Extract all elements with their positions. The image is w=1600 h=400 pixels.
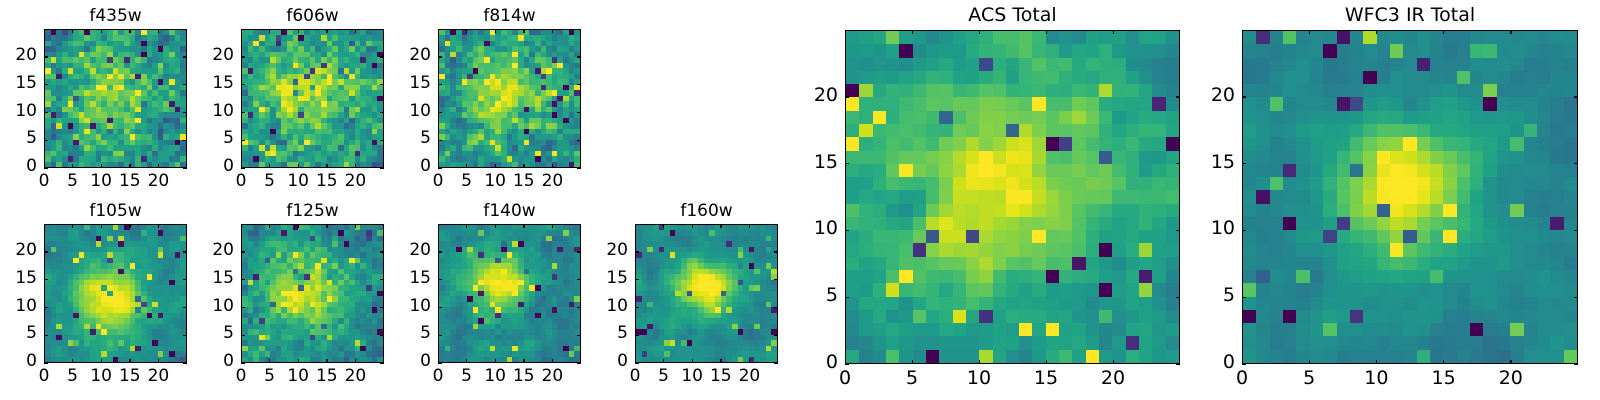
x-tick-mark [326, 29, 327, 33]
y-tick-mark [774, 335, 778, 336]
heatmap-cell [979, 124, 992, 137]
heatmap-cell [1139, 111, 1152, 124]
heatmap-cell [1006, 111, 1019, 124]
heatmap-cell [859, 97, 872, 110]
heatmap-cell [1086, 71, 1099, 84]
heatmap-cell [899, 230, 912, 243]
heatmap-cell [873, 217, 886, 230]
heatmap-cell [1046, 190, 1059, 203]
heatmap-cell [1072, 164, 1085, 177]
heatmap-cell [377, 162, 383, 167]
panel-title-acs-total: ACS Total [845, 6, 1180, 25]
heatmap-cell [1126, 217, 1139, 230]
y-tick-mark [635, 279, 639, 280]
heatmap-cell [1086, 84, 1099, 97]
heatmap-cell [1059, 31, 1072, 44]
heatmap-cell [1072, 124, 1085, 137]
x-tick-mark [44, 224, 45, 228]
heatmap-cell [926, 177, 939, 190]
heatmap-cell [993, 190, 1006, 203]
heatmap-cell [1112, 177, 1125, 190]
heatmap-cell [1032, 58, 1045, 71]
heatmap-cell [1166, 217, 1179, 230]
heatmap-cell [859, 190, 872, 203]
heatmap-cell [899, 44, 912, 57]
x-tick-mark [635, 359, 636, 363]
heatmap-cell [913, 84, 926, 97]
x-tick-mark [101, 224, 102, 228]
y-tick-mark [183, 112, 187, 113]
heatmap-cell [926, 151, 939, 164]
heatmap-cell [1166, 97, 1179, 110]
heatmap-cell [1112, 164, 1125, 177]
heatmap-grid [242, 30, 383, 167]
y-tick-label: 5 [0, 325, 37, 342]
y-tick-label: 5 [391, 325, 431, 342]
x-tick-mark [635, 224, 636, 228]
heatmap-cell [1046, 97, 1059, 110]
heatmap-cell [1112, 137, 1125, 150]
heatmap-cell [993, 204, 1006, 217]
heatmap-cell [846, 217, 859, 230]
heatmap-cell [859, 71, 872, 84]
x-tick-mark [466, 224, 467, 228]
heatmap-cell [180, 162, 186, 167]
heatmap-cell [1166, 31, 1179, 44]
x-tick-mark [523, 359, 524, 363]
heatmap-cell [1032, 44, 1045, 57]
heatmap-cell [1059, 204, 1072, 217]
heatmap-cell [1086, 97, 1099, 110]
x-tick-mark [552, 164, 553, 168]
heatmap-cell [979, 151, 992, 164]
heatmap-cell [1126, 164, 1139, 177]
y-tick-mark [577, 363, 581, 364]
x-tick-mark [663, 359, 664, 363]
y-tick-mark [577, 279, 581, 280]
heatmap-cell [1072, 58, 1085, 71]
heatmap-f435w [44, 29, 187, 168]
x-tick-mark [298, 359, 299, 363]
heatmap-acs-total [845, 30, 1180, 364]
heatmap-cell [913, 177, 926, 190]
heatmap-cell [1099, 151, 1112, 164]
x-tick-label: 20 [335, 173, 375, 190]
heatmap-cell [1019, 58, 1032, 71]
heatmap-cell [1139, 31, 1152, 44]
x-tick-mark [326, 224, 327, 228]
heatmap-cell [1046, 137, 1059, 150]
x-tick-mark [241, 224, 242, 228]
heatmap-cell [899, 137, 912, 150]
heatmap-cell [979, 190, 992, 203]
y-tick-mark [183, 140, 187, 141]
heatmap-cell [939, 164, 952, 177]
heatmap-cell [953, 177, 966, 190]
heatmap-cell [979, 44, 992, 57]
y-tick-mark [241, 279, 245, 280]
x-tick-mark [158, 359, 159, 363]
y-tick-mark [380, 251, 384, 252]
heatmap-cell [966, 204, 979, 217]
heatmap-cell [1072, 190, 1085, 203]
x-tick-mark [72, 359, 73, 363]
y-tick-mark [380, 279, 384, 280]
heatmap-cell [1059, 164, 1072, 177]
heatmap-cell [1126, 111, 1139, 124]
heatmap-cell [886, 230, 899, 243]
heatmap-cell [886, 151, 899, 164]
x-tick-mark [269, 29, 270, 33]
heatmap-cell [873, 44, 886, 57]
heatmap-cell [1152, 58, 1165, 71]
heatmap-cell [1166, 151, 1179, 164]
y-tick-label: 20 [0, 47, 37, 64]
heatmap-cell [1099, 84, 1112, 97]
y-tick-label: 10 [391, 103, 431, 120]
heatmap-cell [1112, 31, 1125, 44]
heatmap-cell [1006, 97, 1019, 110]
heatmap-cell [1086, 217, 1099, 230]
heatmap-cell [1006, 164, 1019, 177]
x-tick-mark [720, 359, 721, 363]
heatmap-cell [1112, 124, 1125, 137]
panel-title-f606w: f606w [241, 8, 384, 25]
heatmap-cell [1152, 190, 1165, 203]
x-tick-mark [495, 224, 496, 228]
x-tick-label: 20 [729, 368, 769, 385]
heatmap-cell [574, 162, 580, 167]
heatmap-cell [1086, 190, 1099, 203]
heatmap-cell [953, 190, 966, 203]
heatmap-cell [993, 84, 1006, 97]
heatmap-cell [899, 124, 912, 137]
heatmap-cell [953, 111, 966, 124]
y-tick-mark [183, 279, 187, 280]
heatmap-cell [873, 137, 886, 150]
y-tick-mark [241, 307, 245, 308]
heatmap-cell [979, 164, 992, 177]
heatmap-cell [1086, 44, 1099, 57]
x-tick-mark [129, 224, 130, 228]
heatmap-cell [1126, 58, 1139, 71]
panel-f814w: f814w0510152005101520 [438, 29, 581, 168]
heatmap-cell [1006, 31, 1019, 44]
heatmap-cell [873, 71, 886, 84]
heatmap-cell [939, 44, 952, 57]
heatmap-grid [45, 225, 186, 362]
heatmap-cell [1152, 97, 1165, 110]
heatmap-cell [1032, 137, 1045, 150]
heatmap-cell [913, 97, 926, 110]
heatmap-grid [45, 30, 186, 167]
x-tick-mark [552, 224, 553, 228]
heatmap-cell [926, 230, 939, 243]
heatmap-cell [966, 137, 979, 150]
heatmap-cell [1006, 124, 1019, 137]
heatmap-cell [1006, 190, 1019, 203]
heatmap-cell [859, 58, 872, 71]
x-tick-mark [552, 29, 553, 33]
heatmap-cell [939, 111, 952, 124]
heatmap-cell [1152, 217, 1165, 230]
heatmap-cell [926, 124, 939, 137]
y-tick-label: 20 [0, 242, 37, 259]
heatmap-cell [1019, 97, 1032, 110]
panel-f125w: f125w0510152005101520 [241, 224, 384, 363]
heatmap-cell [966, 124, 979, 137]
heatmap-cell [1019, 71, 1032, 84]
heatmap-cell [953, 58, 966, 71]
heatmap-cell [926, 31, 939, 44]
heatmap-cell [1019, 217, 1032, 230]
heatmap-cell [1032, 204, 1045, 217]
x-tick-label: 20 [138, 368, 178, 385]
y-tick-mark [577, 335, 581, 336]
x-tick-mark [523, 164, 524, 168]
x-tick-mark [355, 359, 356, 363]
heatmap-cell [1139, 204, 1152, 217]
y-tick-mark [44, 335, 48, 336]
heatmap-cell [953, 204, 966, 217]
heatmap-grid [636, 225, 777, 362]
heatmap-cell [1072, 44, 1085, 57]
y-tick-mark [241, 56, 245, 57]
heatmap-cell [846, 124, 859, 137]
y-tick-label: 10 [194, 298, 234, 315]
heatmap-cell [1046, 111, 1059, 124]
y-tick-mark [44, 140, 48, 141]
heatmap-cell [1019, 31, 1032, 44]
x-tick-mark [523, 224, 524, 228]
heatmap-cell [1152, 124, 1165, 137]
heatmap-cell [1152, 204, 1165, 217]
heatmap-cell [1019, 111, 1032, 124]
heatmap-cell [1059, 151, 1072, 164]
heatmap-cell [913, 71, 926, 84]
x-tick-mark [438, 164, 439, 168]
heatmap-cell [1032, 164, 1045, 177]
x-tick-mark [466, 29, 467, 33]
y-tick-mark [241, 140, 245, 141]
heatmap-cell [966, 164, 979, 177]
heatmap-cell [859, 164, 872, 177]
x-tick-mark [129, 359, 130, 363]
heatmap-cell [1086, 111, 1099, 124]
heatmap-cell [926, 137, 939, 150]
heatmap-cell [859, 217, 872, 230]
y-tick-mark [577, 140, 581, 141]
x-tick-mark [101, 359, 102, 363]
x-tick-mark [326, 359, 327, 363]
heatmap-cell [873, 58, 886, 71]
y-tick-mark [44, 112, 48, 113]
heatmap-cell [939, 31, 952, 44]
x-tick-mark [692, 224, 693, 228]
heatmap-cell [913, 230, 926, 243]
heatmap-cell [1032, 31, 1045, 44]
heatmap-f140w [438, 224, 581, 363]
heatmap-cell [1046, 164, 1059, 177]
heatmap-cell [846, 44, 859, 57]
heatmap-cell [1032, 84, 1045, 97]
heatmap-cell [899, 177, 912, 190]
heatmap-cell [1019, 164, 1032, 177]
heatmap-cell [966, 84, 979, 97]
heatmap-cell [846, 71, 859, 84]
heatmap-cell [846, 204, 859, 217]
x-tick-mark [438, 224, 439, 228]
heatmap-cell [939, 204, 952, 217]
heatmap-cell [1152, 31, 1165, 44]
heatmap-cell [1019, 44, 1032, 57]
y-tick-mark [44, 307, 48, 308]
y-tick-mark [774, 307, 778, 308]
heatmap-cell [846, 151, 859, 164]
heatmap-cell [993, 177, 1006, 190]
heatmap-cell [1126, 190, 1139, 203]
heatmap-f105w [44, 224, 187, 363]
heatmap-cell [926, 217, 939, 230]
y-tick-mark [438, 56, 442, 57]
x-tick-mark [72, 224, 73, 228]
heatmap-cell [1152, 44, 1165, 57]
heatmap-cell [1152, 71, 1165, 84]
heatmap-cell [1046, 58, 1059, 71]
heatmap-cell [966, 111, 979, 124]
heatmap-cell [1166, 111, 1179, 124]
y-tick-mark [635, 307, 639, 308]
y-tick-mark [577, 251, 581, 252]
heatmap-cell [1046, 217, 1059, 230]
heatmap-cell [1006, 84, 1019, 97]
y-tick-mark [438, 251, 442, 252]
heatmap-f606w [241, 29, 384, 168]
y-tick-label: 15 [0, 270, 37, 287]
y-tick-mark [183, 168, 187, 169]
heatmap-cell [1019, 84, 1032, 97]
heatmap-cell [771, 357, 777, 362]
y-tick-mark [183, 363, 187, 364]
x-tick-mark [44, 359, 45, 363]
heatmap-cell [1032, 111, 1045, 124]
heatmap-cell [926, 190, 939, 203]
y-tick-label: 5 [391, 130, 431, 147]
x-tick-mark [495, 359, 496, 363]
heatmap-grid [439, 30, 580, 167]
heatmap-cell [1126, 177, 1139, 190]
heatmap-cell [1152, 111, 1165, 124]
heatmap-cell [899, 164, 912, 177]
heatmap-cell [993, 111, 1006, 124]
x-tick-mark [129, 164, 130, 168]
heatmap-cell [939, 190, 952, 203]
heatmap-cell [846, 111, 859, 124]
x-tick-label: 20 [532, 173, 572, 190]
heatmap-cell [1019, 190, 1032, 203]
heatmap-cell [1019, 151, 1032, 164]
heatmap-cell [1112, 111, 1125, 124]
x-tick-mark [355, 29, 356, 33]
x-tick-mark [749, 359, 750, 363]
x-tick-mark [72, 164, 73, 168]
heatmap-cell [913, 58, 926, 71]
heatmap-cell [1139, 137, 1152, 150]
heatmap-cell [873, 164, 886, 177]
y-tick-mark [577, 112, 581, 113]
panel-acs-total: ACS Total0510152005101520 [845, 30, 1180, 364]
y-tick-mark [577, 56, 581, 57]
heatmap-cell [926, 84, 939, 97]
heatmap-cell [966, 58, 979, 71]
y-tick-label: 5 [588, 325, 628, 342]
heatmap-cell [899, 58, 912, 71]
heatmap-cell [966, 97, 979, 110]
panel-f435w: f435w0510152005101520 [44, 29, 187, 168]
heatmap-cell [1086, 151, 1099, 164]
heatmap-cell [1166, 124, 1179, 137]
y-tick-mark [438, 307, 442, 308]
heatmap-cell [846, 97, 859, 110]
y-tick-label: 10 [391, 298, 431, 315]
x-tick-mark [298, 164, 299, 168]
heatmap-cell [1006, 151, 1019, 164]
panel-f105w: f105w0510152005101520 [44, 224, 187, 363]
heatmap-cell [1059, 84, 1072, 97]
heatmap-cell [1126, 204, 1139, 217]
heatmap-cell [953, 84, 966, 97]
y-tick-mark [183, 56, 187, 57]
heatmap-cell [1126, 97, 1139, 110]
heatmap-cell [1032, 217, 1045, 230]
y-tick-label: 10 [0, 103, 37, 120]
x-tick-mark [158, 224, 159, 228]
heatmap-cell [1072, 137, 1085, 150]
y-tick-mark [774, 251, 778, 252]
heatmap-cell [859, 151, 872, 164]
heatmap-cell [1112, 58, 1125, 71]
heatmap-cell [1072, 217, 1085, 230]
heatmap-cell [873, 177, 886, 190]
heatmap-cell [886, 177, 899, 190]
y-tick-mark [380, 140, 384, 141]
y-tick-mark [183, 335, 187, 336]
heatmap-cell [1046, 31, 1059, 44]
heatmap-cell [1126, 137, 1139, 150]
heatmap-cell [1072, 84, 1085, 97]
heatmap-cell [873, 204, 886, 217]
heatmap-cell [1046, 44, 1059, 57]
y-tick-mark [44, 251, 48, 252]
heatmap-cell [1139, 190, 1152, 203]
heatmap-cell [953, 97, 966, 110]
heatmap-cell [899, 97, 912, 110]
heatmap-cell [1059, 137, 1072, 150]
heatmap-cell [1099, 217, 1112, 230]
x-tick-mark [466, 164, 467, 168]
x-tick-mark [72, 29, 73, 33]
panel-f606w: f606w0510152005101520 [241, 29, 384, 168]
heatmap-cell [1059, 97, 1072, 110]
heatmap-cell [1139, 217, 1152, 230]
heatmap-cell [1006, 137, 1019, 150]
heatmap-cell [1059, 124, 1072, 137]
y-tick-mark [438, 335, 442, 336]
heatmap-cell [1072, 111, 1085, 124]
heatmap-cell [873, 31, 886, 44]
heatmap-cell [1019, 124, 1032, 137]
y-tick-mark [577, 307, 581, 308]
